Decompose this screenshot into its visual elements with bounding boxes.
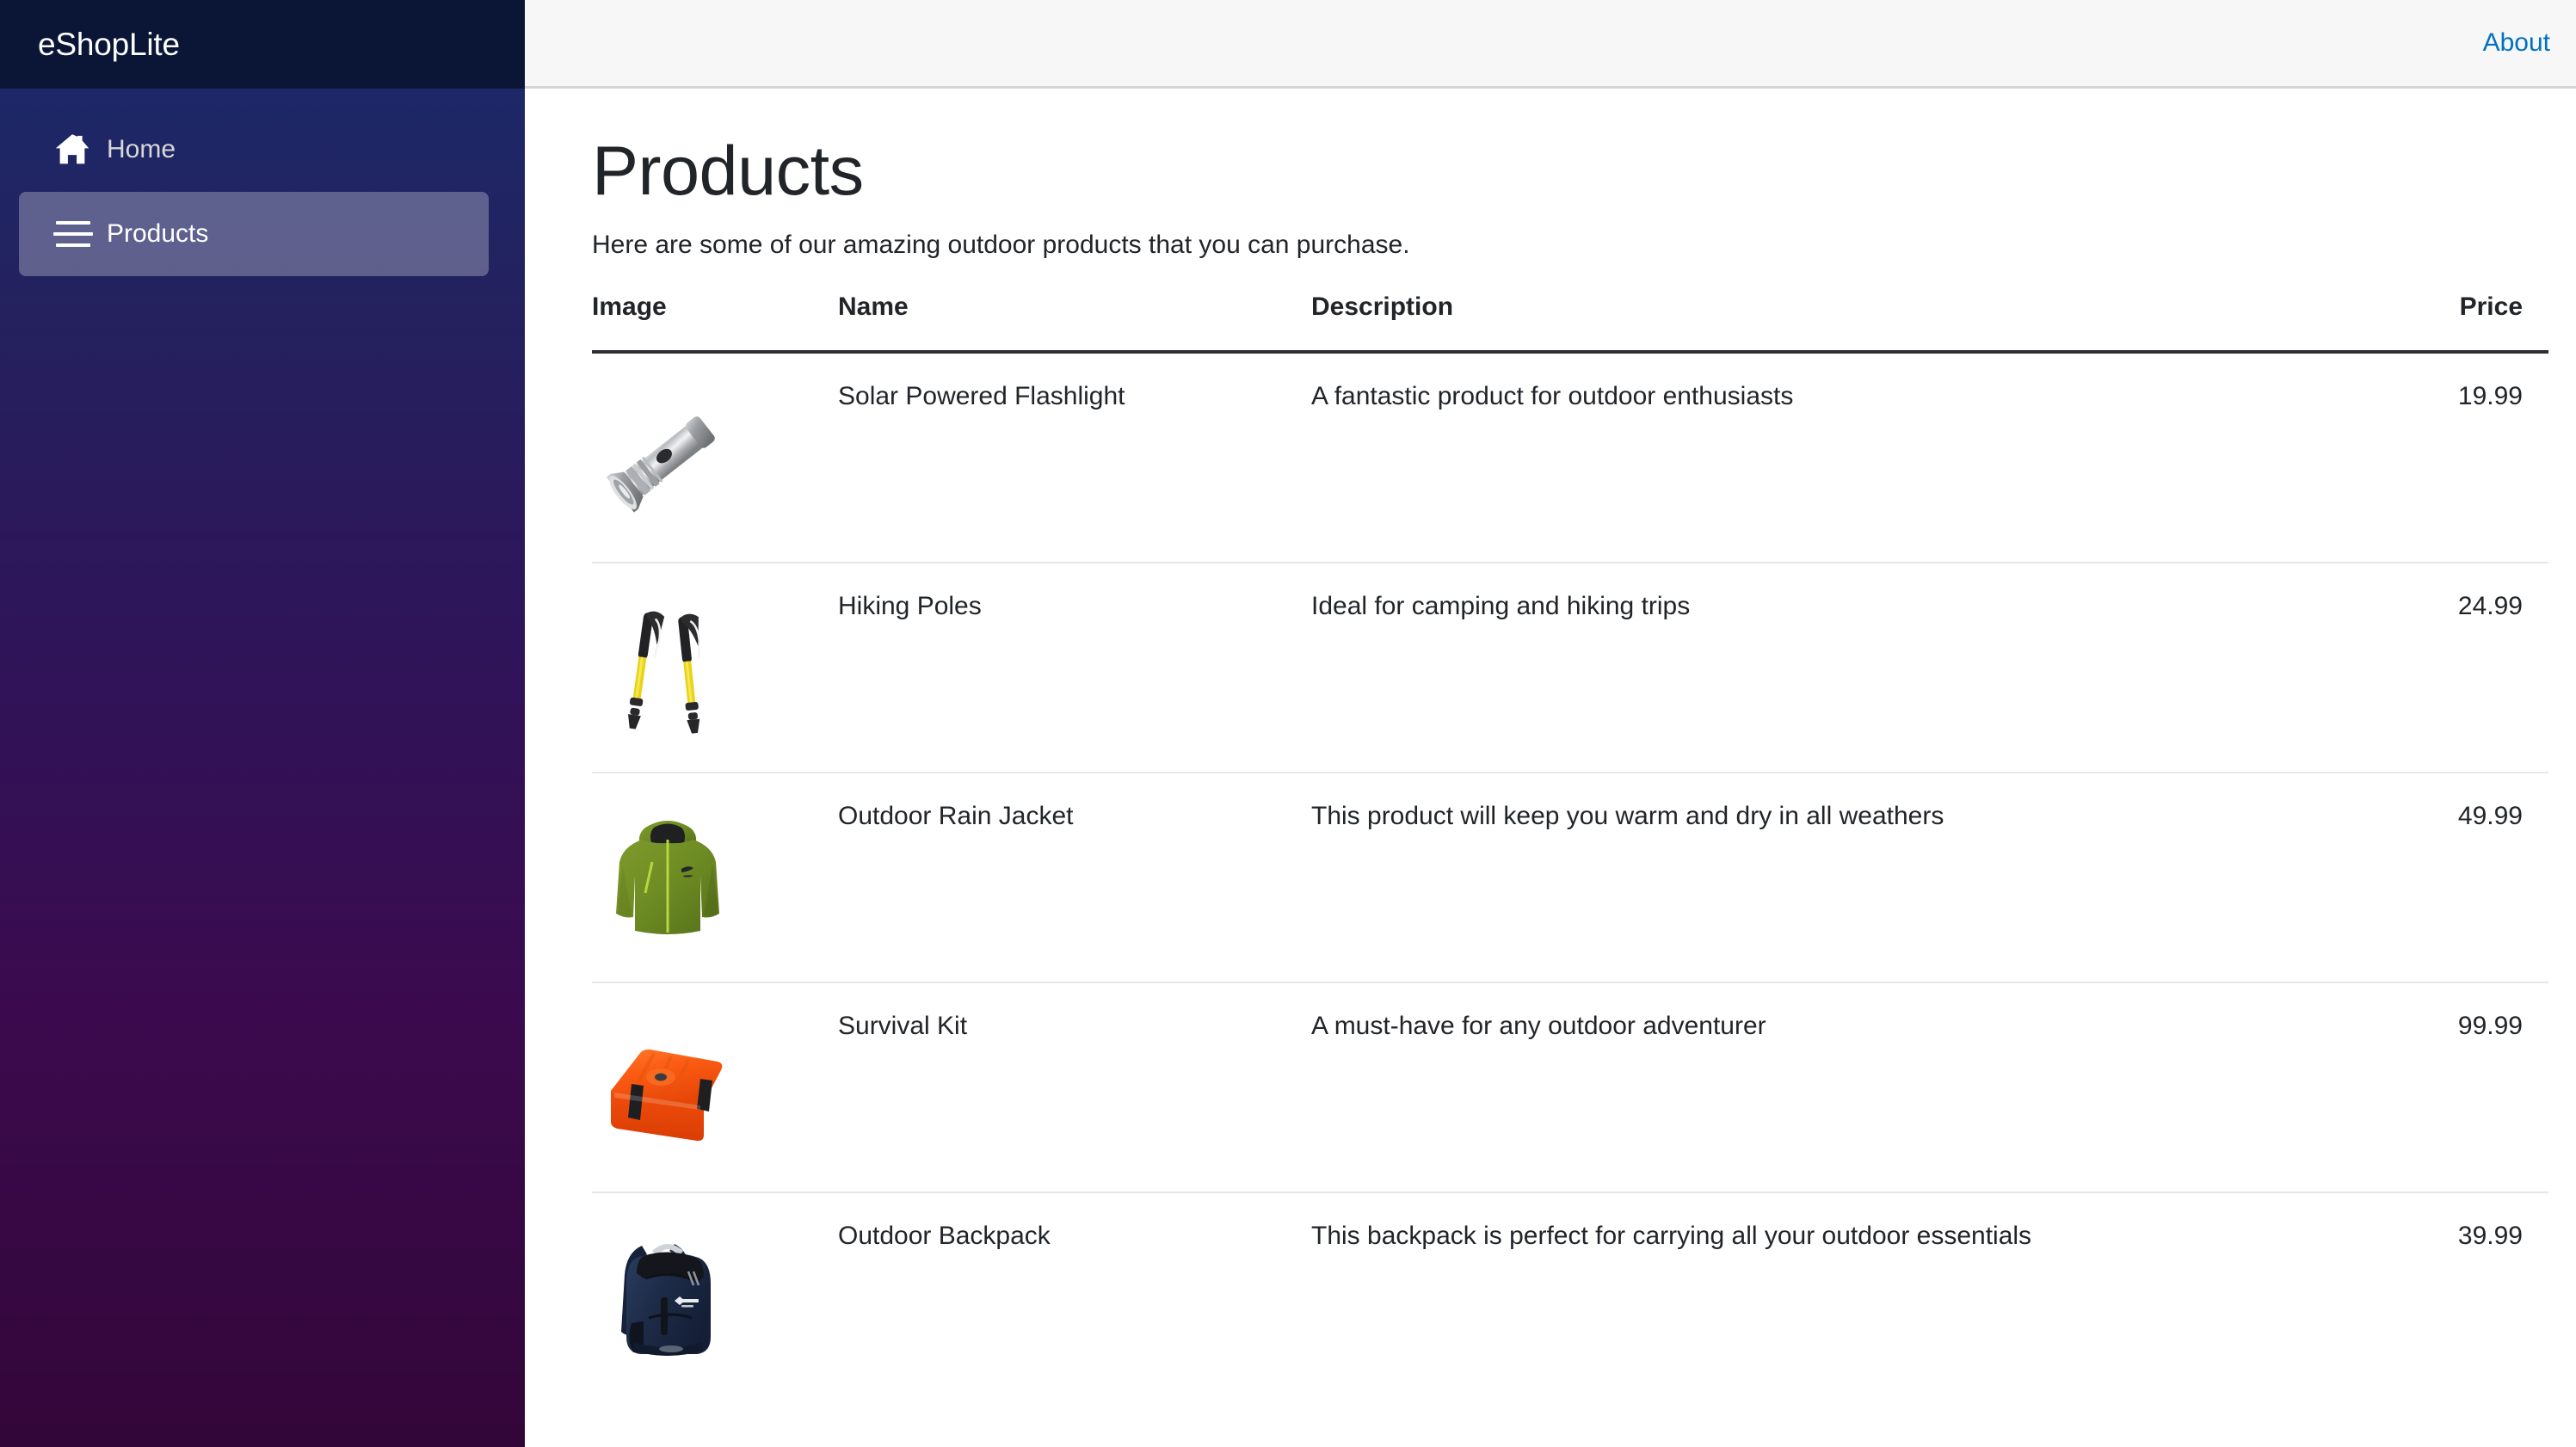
product-image-cell xyxy=(592,563,838,773)
home-icon xyxy=(53,132,98,167)
table-row: Outdoor Backpack This backpack is perfec… xyxy=(592,1192,2548,1401)
product-description-cell: This backpack is perfect for carrying al… xyxy=(1311,1192,2258,1401)
list-icon-lines xyxy=(53,221,93,247)
product-description-cell: A fantastic product for outdoor enthusia… xyxy=(1311,352,2258,563)
list-icon xyxy=(53,221,98,247)
products-table-body: Solar Powered Flashlight A fantastic pro… xyxy=(592,352,2548,1401)
solar-powered-flashlight-image xyxy=(592,382,743,533)
product-image-cell xyxy=(592,773,838,982)
survival-kit-image xyxy=(592,1012,743,1163)
product-name-cell: Survival Kit xyxy=(838,982,1311,1192)
table-row: Solar Powered Flashlight A fantastic pro… xyxy=(592,352,2548,563)
table-header-row: Image Name Description Price xyxy=(592,292,2548,352)
column-header-description: Description xyxy=(1311,292,2258,352)
column-header-image: Image xyxy=(592,292,838,352)
table-row: Hiking Poles Ideal for camping and hikin… xyxy=(592,563,2548,773)
product-price-cell: 24.99 xyxy=(2258,563,2548,773)
product-price-cell: 39.99 xyxy=(2258,1192,2548,1401)
table-row: Survival Kit A must-have for any outdoor… xyxy=(592,982,2548,1192)
page-title: Products xyxy=(592,135,2527,208)
top-bar: About xyxy=(525,0,2576,89)
product-name-cell: Hiking Poles xyxy=(838,563,1311,773)
outdoor-backpack-image xyxy=(592,1222,743,1373)
brand-title[interactable]: eShopLite xyxy=(38,27,180,63)
hiking-poles-image xyxy=(592,592,743,743)
product-image-cell xyxy=(592,352,838,563)
brand-bar: eShopLite xyxy=(0,0,525,89)
products-table-head: Image Name Description Price xyxy=(592,292,2548,352)
product-price-cell: 99.99 xyxy=(2258,982,2548,1192)
sidebar-item-home[interactable]: Home xyxy=(19,108,489,192)
product-name-cell: Solar Powered Flashlight xyxy=(838,352,1311,563)
product-image-cell xyxy=(592,982,838,1192)
page-subtitle: Here are some of our amazing outdoor pro… xyxy=(592,231,2527,260)
product-name-cell: Outdoor Backpack xyxy=(838,1192,1311,1401)
product-image-cell xyxy=(592,1192,838,1401)
main-area: About Products Here are some of our amaz… xyxy=(525,0,2576,1447)
sidebar-item-label-products: Products xyxy=(107,219,208,249)
sidebar: eShopLite Home Products xyxy=(0,0,525,1447)
app-root: eShopLite Home Products xyxy=(0,0,2576,1447)
product-price-cell: 49.99 xyxy=(2258,773,2548,982)
product-description-cell: This product will keep you warm and dry … xyxy=(1311,773,2258,982)
product-description-cell: Ideal for camping and hiking trips xyxy=(1311,563,2258,773)
page-content: Products Here are some of our amazing ou… xyxy=(525,89,2576,1447)
product-description-cell: A must-have for any outdoor adventurer xyxy=(1311,982,2258,1192)
column-header-name: Name xyxy=(838,292,1311,352)
column-header-price: Price xyxy=(2258,292,2548,352)
sidebar-item-products[interactable]: Products xyxy=(19,192,489,276)
outdoor-rain-jacket-image xyxy=(592,802,743,953)
products-table: Image Name Description Price xyxy=(592,292,2548,1401)
table-row: Outdoor Rain Jacket This product will ke… xyxy=(592,773,2548,982)
product-price-cell: 19.99 xyxy=(2258,352,2548,563)
sidebar-nav: Home Products xyxy=(0,89,525,276)
about-link[interactable]: About xyxy=(2483,28,2550,58)
product-name-cell: Outdoor Rain Jacket xyxy=(838,773,1311,982)
sidebar-item-label-home: Home xyxy=(107,135,176,164)
